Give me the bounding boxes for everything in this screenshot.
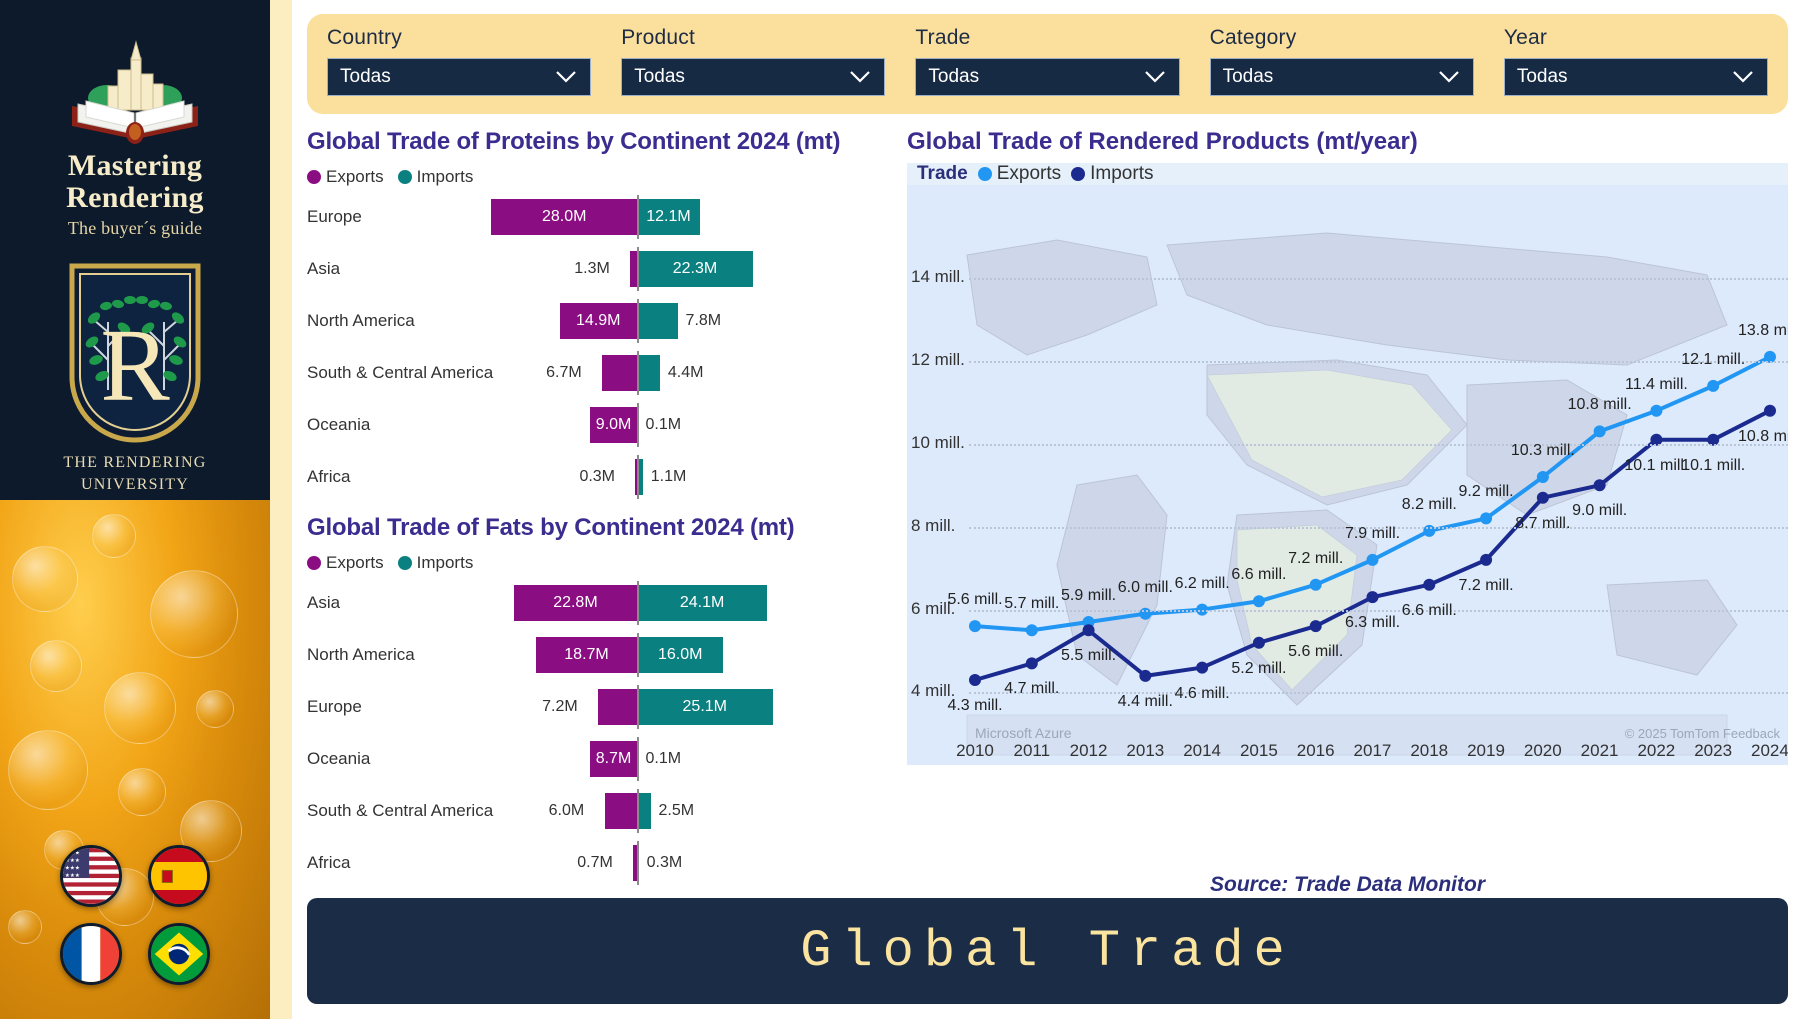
dashboard-content: Global Trade of Proteins by Continent 20… (307, 128, 1788, 888)
flag-france-icon[interactable] (60, 923, 122, 985)
bar-row[interactable]: North America18.7M16.0M (307, 633, 887, 677)
data-point-label: 8.2 mill. (1402, 496, 1457, 514)
bar-category-label: North America (307, 311, 415, 331)
bar-segment-imports[interactable]: 25.1M (637, 689, 773, 725)
bar-value-imports: 2.5M (659, 793, 695, 829)
filter-trade-value: Todas (928, 66, 979, 88)
data-point-label: 7.2 mill. (1288, 550, 1343, 568)
data-point-label: 4.3 mill. (947, 697, 1002, 715)
bar-segment-exports[interactable] (605, 793, 637, 829)
university-name-line2: UNIVERSITY (0, 474, 270, 496)
bar-category-label: Africa (307, 467, 350, 487)
y-axis-tick-label: 8 mill. (911, 516, 955, 536)
data-point-label: 9.0 mill. (1572, 502, 1627, 520)
bar-value-exports: 22.8M (553, 594, 597, 612)
bar-value-exports: 1.3M (574, 251, 610, 287)
bar-value-exports: 0.3M (579, 459, 615, 495)
filter-product-label: Product (621, 26, 885, 50)
bar-category-label: Asia (307, 259, 340, 279)
bar-segment-imports[interactable]: 24.1M (637, 585, 767, 621)
bar-zero-axis (637, 403, 639, 447)
bar-zero-axis (637, 841, 639, 885)
bar-value-imports: 0.1M (646, 741, 682, 777)
legend-item-exports[interactable]: Exports (307, 167, 384, 187)
bar-value-exports: 18.7M (564, 646, 608, 664)
legend-dot-exports (307, 170, 321, 184)
filter-trade: Trade Todas (915, 26, 1179, 96)
data-point[interactable] (1594, 425, 1606, 437)
legend-title-trade: Trade (917, 163, 968, 185)
chart-fats-legend: Exports Imports (307, 553, 887, 573)
bar-zero-axis (637, 581, 639, 625)
filter-product-dropdown[interactable]: Todas (621, 58, 885, 96)
legend-dot-exports (307, 556, 321, 570)
filter-year-value: Todas (1517, 66, 1568, 88)
bar-category-label: Europe (307, 697, 362, 717)
source-note: Source: Trade Data Monitor (907, 873, 1788, 897)
chart-line-title: Global Trade of Rendered Products (mt/ye… (907, 128, 1788, 156)
bar-row[interactable]: Oceania8.7M0.1M (307, 737, 887, 781)
chevron-down-icon (554, 68, 578, 91)
legend-label-exports: Exports (326, 553, 384, 573)
filter-country-label: Country (327, 26, 591, 50)
bar-category-label: South & Central America (307, 363, 493, 383)
data-point-label: 5.9 mill. (1061, 587, 1116, 605)
bar-segment-exports[interactable]: 18.7M (536, 637, 637, 673)
x-axis-tick-label: 2013 (1117, 741, 1174, 761)
data-point[interactable] (1423, 579, 1435, 591)
filter-trade-dropdown[interactable]: Todas (915, 58, 1179, 96)
bar-row[interactable]: Asia1.3M22.3M (307, 247, 887, 291)
data-point[interactable] (969, 674, 981, 686)
data-point[interactable] (1367, 554, 1379, 566)
flag-spain-icon[interactable] (148, 845, 210, 907)
bar-value-imports: 16.0M (658, 646, 702, 664)
bar-category-label: Asia (307, 593, 340, 613)
bar-segment-exports[interactable] (598, 689, 637, 725)
bar-value-exports: 6.7M (546, 355, 582, 391)
footer-title: Global Trade (800, 922, 1294, 981)
chevron-down-icon (1731, 68, 1755, 91)
bar-zero-axis (637, 299, 639, 343)
data-point[interactable] (1253, 637, 1265, 649)
gridline (969, 278, 1788, 280)
bar-zero-axis (637, 247, 639, 291)
data-point-label: 5.2 mill. (1231, 660, 1286, 678)
chart-proteins-by-continent: Global Trade of Proteins by Continent 20… (307, 128, 887, 507)
bar-category-label: South & Central America (307, 801, 493, 821)
bar-zero-axis (637, 789, 639, 833)
gridline (969, 692, 1788, 694)
bar-zero-axis (637, 633, 639, 677)
bar-segment-exports[interactable]: 14.9M (560, 303, 637, 339)
data-point-label: 11.4 mill. (1625, 376, 1688, 394)
data-point[interactable] (1310, 620, 1322, 632)
x-axis-tick-label: 2019 (1458, 741, 1515, 761)
x-axis-tick-label: 2011 (1003, 741, 1060, 761)
chart-proteins-bars: Europe28.0M12.1MAsia1.3M22.3MNorth Ameri… (307, 195, 887, 499)
brand-sidebar: Mastering Rendering The buyer´s guide (0, 0, 270, 1019)
svg-text:★★★: ★★★ (65, 857, 80, 864)
svg-text:★★★: ★★★ (65, 864, 80, 871)
x-axis-tick-label: 2010 (947, 741, 1004, 761)
data-point[interactable] (1367, 591, 1379, 603)
bar-value-imports: 22.3M (673, 260, 717, 278)
university-crest-icon: R (0, 260, 270, 450)
data-point-label: 5.6 mill. (1288, 643, 1343, 661)
x-axis-labels: 2010201120122013201420152016201720182019… (947, 741, 1788, 761)
book-city-logo-icon (0, 36, 270, 144)
bar-zero-axis (637, 685, 639, 729)
x-axis-tick-label: 2020 (1514, 741, 1571, 761)
data-point-label: 6.6 mill. (1402, 602, 1457, 620)
data-point[interactable] (1537, 492, 1549, 504)
data-point-label: 6.3 mill. (1345, 614, 1400, 632)
bar-segment-exports[interactable] (602, 355, 637, 391)
bar-row[interactable]: South & Central America6.7M4.4M (307, 351, 887, 395)
line-series-imports (975, 411, 1770, 680)
y-axis-tick-label: 12 mill. (911, 350, 965, 370)
legend-item-exports[interactable]: Exports (978, 163, 1061, 185)
data-point[interactable] (1480, 512, 1492, 524)
brand-title: Mastering Rendering (0, 150, 270, 214)
filter-country: Country Todas (327, 26, 591, 96)
x-axis-tick-label: 2015 (1231, 741, 1288, 761)
crest-letter: R (100, 308, 170, 423)
filter-year-label: Year (1504, 26, 1768, 50)
x-axis-tick-label: 2016 (1287, 741, 1344, 761)
data-point-label: 5.5 mill. (1061, 647, 1116, 665)
bar-segment-imports[interactable]: 12.1M (637, 199, 700, 235)
legend-item-imports[interactable]: Imports (1071, 163, 1153, 185)
data-point-label: 9.2 mill. (1459, 483, 1514, 501)
data-point[interactable] (1764, 405, 1776, 417)
filter-bar: Country Todas Product Todas Trade Todas … (307, 14, 1788, 114)
svg-text:★★★: ★★★ (65, 850, 80, 857)
data-point[interactable] (1594, 479, 1606, 491)
legend-label-exports: Exports (326, 167, 384, 187)
data-point[interactable] (1650, 405, 1662, 417)
data-point[interactable] (969, 620, 981, 632)
flag-brazil-icon[interactable] (148, 923, 210, 985)
chart-fats-by-continent: Global Trade of Fats by Continent 2024 (… (307, 514, 887, 893)
filter-country-value: Todas (340, 66, 391, 88)
filter-category-value: Todas (1223, 66, 1274, 88)
bar-row[interactable]: South & Central America6.0M2.5M (307, 789, 887, 833)
bar-value-exports: 28.0M (542, 208, 586, 226)
sidebar-accent-strip (270, 0, 292, 1019)
bar-value-exports: 6.0M (549, 793, 585, 829)
x-axis-tick-label: 2024 (1742, 741, 1788, 761)
filter-trade-label: Trade (915, 26, 1179, 50)
data-point[interactable] (1480, 554, 1492, 566)
bar-value-imports: 12.1M (646, 208, 690, 226)
bar-segment-exports[interactable]: 28.0M (491, 199, 637, 235)
data-point[interactable] (1139, 670, 1151, 682)
bar-row[interactable]: Asia22.8M24.1M (307, 581, 887, 625)
data-point-label: 5.7 mill. (1004, 595, 1059, 613)
bar-row[interactable]: Oceania9.0M0.1M (307, 403, 887, 447)
data-point-label: 4.4 mill. (1118, 693, 1173, 711)
bar-segment-imports[interactable] (637, 355, 660, 391)
bar-zero-axis (637, 737, 639, 781)
bar-value-imports: 25.1M (683, 698, 727, 716)
x-axis-tick-label: 2022 (1628, 741, 1685, 761)
filter-product-value: Todas (634, 66, 685, 88)
x-axis-tick-label: 2012 (1060, 741, 1117, 761)
bar-segment-imports[interactable]: 16.0M (637, 637, 723, 673)
data-point-label: 12.1 mill. (1681, 351, 1745, 369)
y-axis-tick-label: 10 mill. (911, 433, 965, 453)
bar-value-exports: 9.0M (596, 416, 632, 434)
bar-category-label: Africa (307, 853, 350, 873)
filter-year-dropdown[interactable]: Todas (1504, 58, 1768, 96)
bar-value-imports: 0.1M (646, 407, 682, 443)
data-point-label: 6.2 mill. (1175, 575, 1230, 593)
chevron-down-icon (1143, 68, 1167, 91)
bar-row[interactable]: Europe28.0M12.1M (307, 195, 887, 239)
flag-usa-icon[interactable]: ★★★★★★ ★★★★★★ (60, 845, 122, 907)
bar-segment-imports[interactable] (637, 303, 678, 339)
brand-subtitle: The buyer´s guide (0, 218, 270, 239)
legend-item-imports[interactable]: Imports (398, 553, 474, 573)
language-flags: ★★★★★★ ★★★★★★ (0, 845, 270, 1001)
data-point-label: 5.6 mill. (947, 591, 1002, 609)
bar-category-label: Oceania (307, 415, 370, 435)
data-point-label: 8.7 mill. (1515, 515, 1570, 533)
bar-segment-exports[interactable] (630, 251, 637, 287)
bar-segment-imports[interactable] (637, 793, 651, 829)
legend-item-imports[interactable]: Imports (398, 167, 474, 187)
bar-value-imports: 1.1M (651, 459, 687, 495)
data-point-label: 6.6 mill. (1231, 566, 1286, 584)
bar-category-label: Oceania (307, 749, 370, 769)
filter-category: Category Todas (1210, 26, 1474, 96)
bar-segment-exports[interactable]: 8.7M (590, 741, 637, 777)
data-point-label: 6.0 mill. (1118, 579, 1173, 597)
gridline (969, 444, 1788, 446)
data-point-label: 13.8 mill. (1738, 322, 1788, 340)
legend-label-imports: Imports (1090, 163, 1153, 185)
data-point[interactable] (1083, 624, 1095, 636)
legend-dot-imports (398, 556, 412, 570)
university-name-line1: THE RENDERING (0, 452, 270, 474)
bar-row[interactable]: Europe7.2M25.1M (307, 685, 887, 729)
data-point-label: 7.2 mill. (1459, 577, 1514, 595)
legend-dot-imports (398, 170, 412, 184)
bar-zero-axis (637, 195, 639, 239)
bar-zero-axis (637, 351, 639, 395)
bar-category-label: North America (307, 645, 415, 665)
legend-label-imports: Imports (417, 553, 474, 573)
filter-category-label: Category (1210, 26, 1474, 50)
x-axis-tick-label: 2014 (1174, 741, 1231, 761)
line-series-layer (907, 185, 1788, 765)
brand-title-line1: Mastering (0, 150, 270, 182)
legend-dot-exports (978, 167, 992, 181)
legend-label-exports: Exports (997, 163, 1061, 185)
chevron-down-icon (1437, 68, 1461, 91)
bar-value-exports: 7.2M (542, 689, 578, 725)
chart-fats-title: Global Trade of Fats by Continent 2024 (… (307, 514, 887, 542)
data-point-label: 4.7 mill. (1004, 680, 1059, 698)
bar-value-exports: 14.9M (576, 312, 620, 330)
bar-row[interactable]: Africa0.3M1.1M (307, 455, 887, 499)
data-point[interactable] (1310, 579, 1322, 591)
chart-line-legend: Trade Exports Imports (907, 163, 1788, 185)
filter-year: Year Todas (1504, 26, 1768, 96)
data-point-label: 10.1 mill. (1681, 457, 1745, 475)
chart-rendered-products-trend: Global Trade of Rendered Products (mt/ye… (907, 128, 1788, 765)
legend-item-exports[interactable]: Exports (307, 553, 384, 573)
gridline (969, 610, 1788, 612)
data-point-label: 10.8 mill. (1568, 396, 1632, 414)
data-point[interactable] (1026, 657, 1038, 669)
data-point-label: 7.9 mill. (1345, 525, 1400, 543)
bar-value-imports: 4.4M (668, 355, 704, 391)
data-point[interactable] (1253, 595, 1265, 607)
data-point[interactable] (1537, 471, 1549, 483)
data-point-label: 10.8 mill. (1738, 428, 1788, 446)
bar-value-imports: 24.1M (680, 594, 724, 612)
bar-value-exports: 0.7M (577, 845, 613, 881)
university-name: THE RENDERING UNIVERSITY (0, 452, 270, 496)
svg-text:★★★: ★★★ (65, 872, 80, 879)
line-chart-plot-area[interactable]: Microsoft Azure © 2025 TomTom Feedback 4… (907, 185, 1788, 765)
x-axis-tick-label: 2018 (1401, 741, 1458, 761)
data-point[interactable] (1196, 662, 1208, 674)
legend-dot-imports (1071, 167, 1085, 181)
bar-category-label: Europe (307, 207, 362, 227)
filter-product: Product Todas (621, 26, 885, 96)
data-point-label: 10.3 mill. (1511, 442, 1575, 460)
x-axis-tick-label: 2017 (1344, 741, 1401, 761)
data-point[interactable] (1707, 380, 1719, 392)
chevron-down-icon (848, 68, 872, 91)
bar-row[interactable]: North America14.9M7.8M (307, 299, 887, 343)
filter-category-dropdown[interactable]: Todas (1210, 58, 1474, 96)
map-attribution-left: Microsoft Azure (975, 725, 1071, 741)
bar-row[interactable]: Africa0.7M0.3M (307, 841, 887, 885)
data-point-label: 4.6 mill. (1175, 685, 1230, 703)
chart-fats-bars: Asia22.8M24.1MNorth America18.7M16.0MEur… (307, 581, 887, 885)
data-point-label: 10.1 mill. (1624, 457, 1688, 475)
bar-value-imports: 0.3M (647, 845, 683, 881)
legend-label-imports: Imports (417, 167, 474, 187)
y-axis-tick-label: 14 mill. (911, 267, 965, 287)
chart-proteins-title: Global Trade of Proteins by Continent 20… (307, 128, 887, 156)
x-axis-tick-label: 2021 (1571, 741, 1628, 761)
bar-segment-imports[interactable]: 22.3M (637, 251, 753, 287)
bar-value-exports: 8.7M (596, 750, 632, 768)
bar-zero-axis (637, 455, 639, 499)
bar-segment-exports[interactable]: 9.0M (590, 407, 637, 443)
map-attribution-right: © 2025 TomTom Feedback (1625, 726, 1780, 741)
data-point[interactable] (1026, 624, 1038, 636)
filter-country-dropdown[interactable]: Todas (327, 58, 591, 96)
footer-banner: Global Trade (307, 898, 1788, 1004)
brand-title-line2: Rendering (0, 182, 270, 214)
bar-segment-exports[interactable]: 22.8M (514, 585, 637, 621)
chart-proteins-legend: Exports Imports (307, 167, 887, 187)
gridline (969, 361, 1788, 363)
x-axis-tick-label: 2023 (1685, 741, 1742, 761)
bar-value-imports: 7.8M (686, 303, 722, 339)
